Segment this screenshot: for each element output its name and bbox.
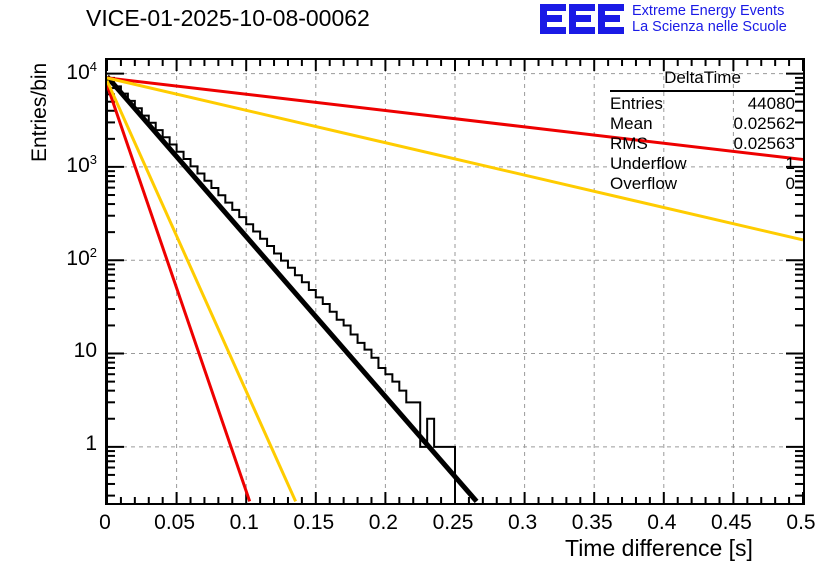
x-tick-label: 0.1 bbox=[204, 511, 284, 535]
logo-e-icon bbox=[569, 4, 595, 34]
stats-row-key: Mean bbox=[610, 114, 659, 134]
stats-row-value: 0.02562 bbox=[734, 114, 795, 134]
stats-row: Overflow0 bbox=[610, 174, 795, 194]
stats-row-value: 0 bbox=[786, 174, 795, 194]
stats-rows: Entries44080Mean0.02562RMS0.02563Underfl… bbox=[610, 94, 795, 194]
stats-row-value: 1 bbox=[786, 154, 795, 174]
stats-row-value: 44080 bbox=[748, 94, 795, 114]
x-tick-label: 0.2 bbox=[343, 511, 423, 535]
x-tick-label: 0.4 bbox=[622, 511, 702, 535]
stats-divider bbox=[610, 90, 795, 92]
x-tick-label: 0.25 bbox=[413, 511, 493, 535]
logo-line-2: La Scienza nelle Scuole bbox=[632, 19, 787, 35]
stats-box: DeltaTime Entries44080Mean0.02562RMS0.02… bbox=[610, 68, 795, 194]
logo-text: Extreme Energy Events La Scienza nelle S… bbox=[632, 3, 787, 35]
y-axis-title: Entries/bin bbox=[28, 62, 52, 161]
stats-row: Entries44080 bbox=[610, 94, 795, 114]
page-title: VICE-01-2025-10-08-00062 bbox=[86, 5, 370, 32]
stats-row: Underflow1 bbox=[610, 154, 795, 174]
stats-row-key: RMS bbox=[610, 134, 654, 154]
chart-canvas: VICE-01-2025-10-08-00062 Extreme Energy … bbox=[0, 0, 836, 572]
stats-row-key: Underflow bbox=[610, 154, 693, 174]
y-tick-label: 1 bbox=[85, 432, 97, 456]
stats-row: RMS0.02563 bbox=[610, 134, 795, 154]
stats-row-key: Entries bbox=[610, 94, 669, 114]
x-tick-label: 0.05 bbox=[135, 511, 215, 535]
y-tick-label: 10 bbox=[74, 339, 97, 363]
eee-logo-mark bbox=[540, 4, 624, 34]
x-tick-label: 0.45 bbox=[691, 511, 771, 535]
y-tick-label: 104 bbox=[66, 59, 97, 85]
x-tick-label: 0.5 bbox=[761, 511, 836, 535]
x-tick-label: 0.15 bbox=[274, 511, 354, 535]
logo-line-1: Extreme Energy Events bbox=[632, 3, 787, 19]
stats-title: DeltaTime bbox=[610, 68, 795, 89]
x-tick-label: 0 bbox=[65, 511, 145, 535]
eee-logo: Extreme Energy Events La Scienza nelle S… bbox=[540, 3, 787, 35]
x-tick-label: 0.35 bbox=[552, 511, 632, 535]
stats-row: Mean0.02562 bbox=[610, 114, 795, 134]
logo-e-icon bbox=[598, 4, 624, 34]
y-tick-label: 102 bbox=[66, 245, 97, 271]
logo-e-icon bbox=[540, 4, 566, 34]
x-axis-title: Time difference [s] bbox=[565, 535, 753, 562]
stats-row-key: Overflow bbox=[610, 174, 683, 194]
y-tick-label: 103 bbox=[66, 152, 97, 178]
x-tick-label: 0.3 bbox=[483, 511, 563, 535]
stats-row-value: 0.02563 bbox=[734, 134, 795, 154]
